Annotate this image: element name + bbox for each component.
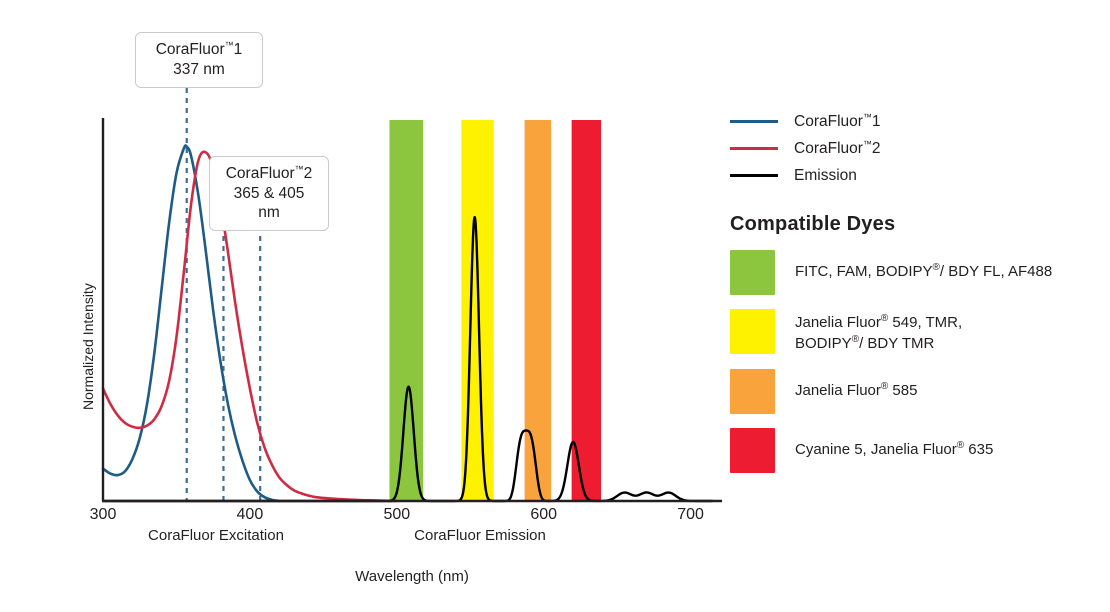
x-tick-400: 400 [220, 506, 280, 524]
x-tick-700: 700 [661, 506, 721, 524]
dye-color-swatch-icon [730, 428, 775, 473]
emission-band-3 [572, 120, 601, 501]
legend-item-2[interactable]: Emission [730, 162, 1100, 189]
series-legend: CoraFluor™1CoraFluor™2Emission [730, 108, 1100, 189]
x-tick-600: 600 [514, 506, 574, 524]
anno2-num: 2 [304, 165, 313, 182]
annotation-corafluor2: CoraFluor™2 365 & 405 nm [209, 156, 329, 231]
anno1-num: 1 [234, 41, 243, 58]
compatible-dyes-title: Compatible Dyes [730, 213, 1100, 236]
dye-color-swatch-icon [730, 250, 775, 295]
dye-item-label: FITC, FAM, BODIPY®/ BDY FL, AF488 [795, 250, 1052, 282]
trademark-icon: ™ [863, 139, 872, 149]
trademark-icon: ™ [295, 164, 304, 174]
dye-label-line1: Janelia Fluor® 585 [795, 380, 917, 401]
anno1-value: 337 nm [148, 60, 250, 79]
registered-icon: ® [852, 334, 859, 345]
registered-icon: ® [881, 381, 888, 392]
y-axis-label: Normalized Intensity [80, 283, 96, 410]
registered-icon: ® [957, 440, 964, 451]
dye-color-swatch-icon [730, 369, 775, 414]
dye-color-swatch-icon [730, 309, 775, 354]
axis-group-emission: CoraFluor Emission [330, 527, 630, 544]
legend-item-0[interactable]: CoraFluor™1 [730, 108, 1100, 135]
axis-group-excitation: CoraFluor Excitation [66, 527, 366, 544]
dye-label-line2: BODIPY®/ BDY TMR [795, 333, 962, 354]
dye-item-2[interactable]: Janelia Fluor® 585 [730, 369, 1100, 414]
dye-label-line1: Janelia Fluor® 549, TMR, [795, 312, 962, 333]
dye-label-line1: FITC, FAM, BODIPY®/ BDY FL, AF488 [795, 261, 1052, 282]
trademark-icon: ™ [225, 40, 234, 50]
anno2-name: CoraFluor [226, 165, 295, 182]
legend-item-1[interactable]: CoraFluor™2 [730, 135, 1100, 162]
dye-item-0[interactable]: FITC, FAM, BODIPY®/ BDY FL, AF488 [730, 250, 1100, 295]
legend-item-label: CoraFluor™1 [794, 112, 881, 131]
dye-item-label: Janelia Fluor® 549, TMR,BODIPY®/ BDY TMR [795, 309, 962, 355]
legend-panel: CoraFluor™1CoraFluor™2Emission Compatibl… [730, 108, 1100, 487]
legend-item-label: CoraFluor™2 [794, 139, 881, 158]
compatible-dyes-list: FITC, FAM, BODIPY®/ BDY FL, AF488Janelia… [730, 250, 1100, 473]
registered-icon: ® [933, 262, 940, 273]
spectra-chart: CoraFluor™1 337 nm CoraFluor™2 365 & 405… [0, 0, 1110, 612]
legend-line-swatch-icon [730, 174, 778, 177]
registered-icon: ® [881, 313, 888, 324]
dye-label-line1: Cyanine 5, Janelia Fluor® 635 [795, 439, 993, 460]
dye-item-label: Cyanine 5, Janelia Fluor® 635 [795, 428, 993, 460]
dye-item-3[interactable]: Cyanine 5, Janelia Fluor® 635 [730, 428, 1100, 473]
legend-item-label: Emission [794, 167, 857, 185]
emission-band-2 [525, 120, 551, 501]
dye-item-1[interactable]: Janelia Fluor® 549, TMR,BODIPY®/ BDY TMR [730, 309, 1100, 355]
x-tick-300: 300 [73, 506, 133, 524]
trademark-icon: ™ [863, 112, 872, 122]
emission-band-0 [389, 120, 423, 501]
x-axis-label: Wavelength (nm) [262, 568, 562, 585]
anno1-name: CoraFluor [156, 41, 225, 58]
x-tick-500: 500 [367, 506, 427, 524]
legend-line-swatch-icon [730, 120, 778, 123]
legend-line-swatch-icon [730, 147, 778, 150]
annotation-corafluor1: CoraFluor™1 337 nm [135, 32, 263, 88]
dye-item-label: Janelia Fluor® 585 [795, 369, 917, 401]
anno2-value: 365 & 405 nm [222, 184, 316, 223]
